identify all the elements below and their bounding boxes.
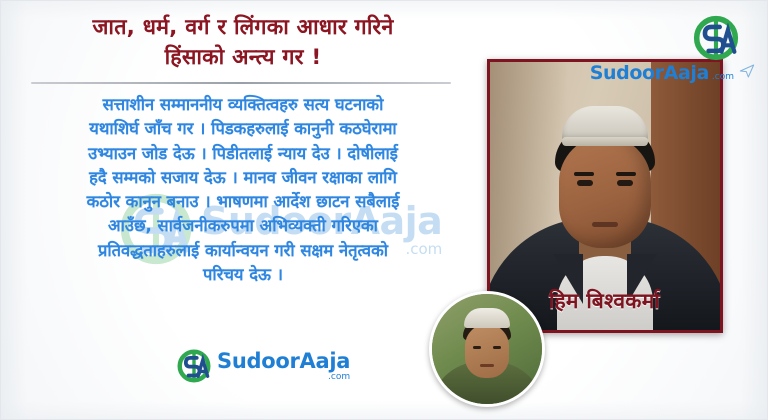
headline-line-2: हिंसाको अन्त्य गर ! xyxy=(23,43,463,73)
poster-canvas: SudoorAaja .com SudoorAaja .com ज xyxy=(0,0,768,420)
footer-brand-tld: .com xyxy=(328,373,350,382)
inset-dhaka-topi-icon xyxy=(464,308,510,328)
photo-eye-left xyxy=(577,180,593,186)
inset-photo xyxy=(429,291,545,407)
sa-monogram-icon xyxy=(177,349,211,383)
brand-tld: .com xyxy=(712,72,734,82)
body-paragraph: सत्ताशीन सम्माननीय व्यक्तित्वहरु सत्य घट… xyxy=(17,93,469,287)
inset-face xyxy=(465,324,509,378)
photo-eyebrow-left xyxy=(574,172,594,176)
body-line: आउँछ, सार्वजनीकरुपमा अभिव्यक्ती गरिएका xyxy=(21,214,465,238)
paper-plane-icon xyxy=(739,63,755,83)
photo-eyebrow-right xyxy=(616,172,636,176)
inset-eye-left xyxy=(473,346,481,349)
body-line: प्रतिवद्धताहरुलाई कार्यान्वयन गरी सक्षम … xyxy=(21,239,465,263)
footer-logo[interactable]: SudoorAaja .com xyxy=(177,349,350,383)
body-line: परिचय देऊ । xyxy=(21,263,465,287)
photo-mouth xyxy=(592,222,618,227)
body-line: उभ्याउन जोड देऊ । पिडीतलाई न्याय देउ । द… xyxy=(21,142,465,166)
body-line: हदै सम्मको सजाय देऊ । मानव जीवन रक्षाका … xyxy=(21,166,465,190)
person-name: हिम बिश्वकर्मा xyxy=(549,287,660,315)
inset-mouth xyxy=(480,364,494,367)
page-title: जात, धर्म, वर्ग र लिंगका आधार गरिने हिंस… xyxy=(17,13,469,73)
divider xyxy=(31,82,451,84)
body-line: कठोर कानुन बनाउ । भाषणमा आर्देश छाटन सबै… xyxy=(21,190,465,214)
brand-logo[interactable]: SudoorAaja .com xyxy=(590,15,755,84)
body-line: सत्ताशीन सम्माननीय व्यक्तित्वहरु सत्य घट… xyxy=(21,93,465,117)
inset-eye-right xyxy=(493,346,501,349)
footer-brand-name: SudoorAaja xyxy=(217,351,350,372)
photo-eye-right xyxy=(617,180,633,186)
dhaka-topi-icon xyxy=(562,106,648,142)
photo-face xyxy=(559,136,651,248)
headline-line-1: जात, धर्म, वर्ग र लिंगका आधार गरिने xyxy=(92,15,393,40)
sa-monogram-icon xyxy=(693,15,739,61)
brand-name: SudoorAaja xyxy=(590,62,709,84)
text-column: जात, धर्म, वर्ग र लिंगका आधार गरिने हिंस… xyxy=(17,13,469,343)
body-line: यथाशिर्घ जाँच गर । पिडकहरुलाई कानुनी कठघ… xyxy=(21,117,465,141)
